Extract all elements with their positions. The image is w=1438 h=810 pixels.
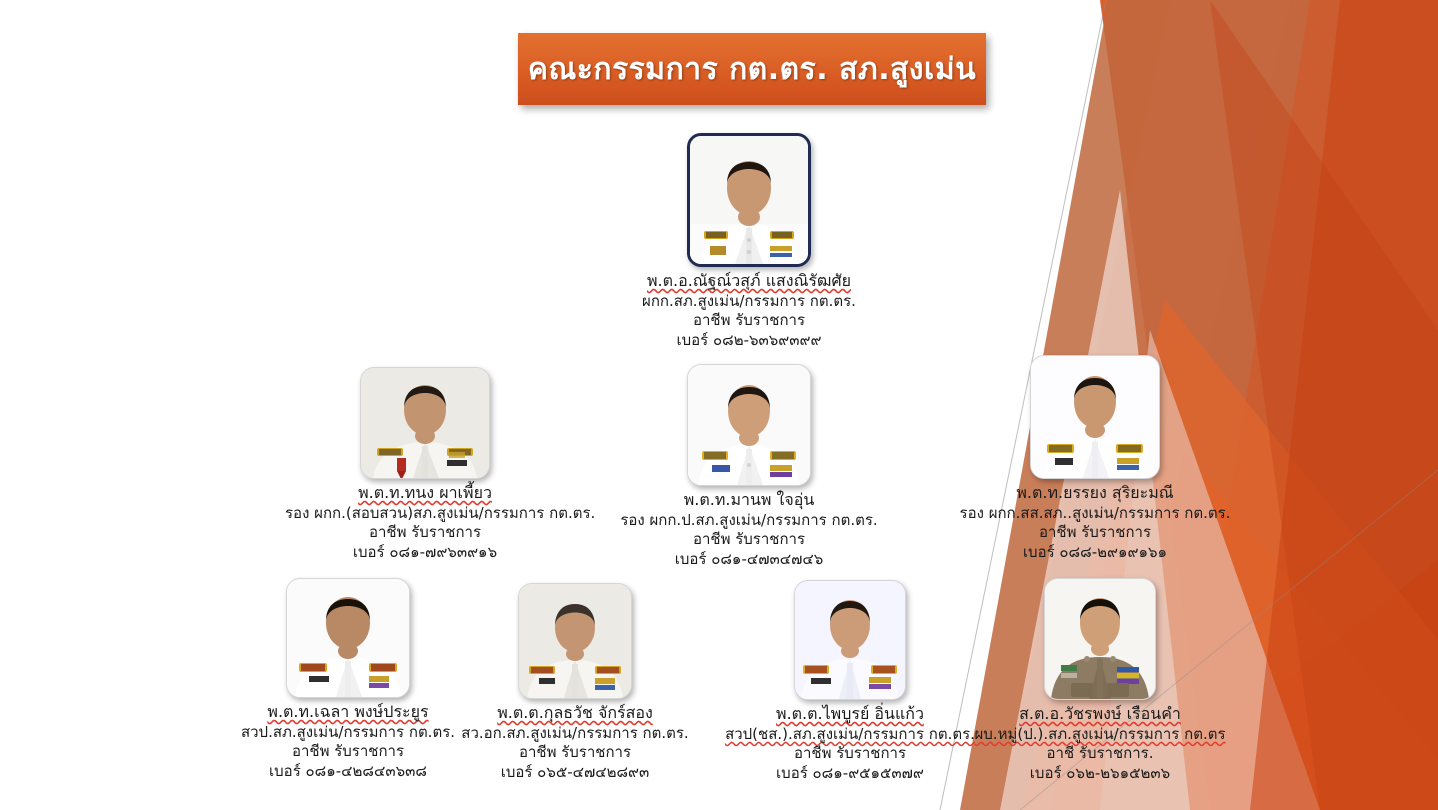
photo-frame-squad-leader xyxy=(1044,578,1156,700)
person-phone: เบอร์ ๐๘๑-๙๕๑๕๓๗๙ xyxy=(710,764,990,784)
portrait-deputy-investigation-branch xyxy=(1031,356,1159,478)
portrait-chief xyxy=(690,136,808,264)
portrait-squad-leader xyxy=(1045,579,1155,699)
caption-squad-leader: ส.ต.อ.วัชรพงษ์ เรือนคำ ผบ.หมู่(ป.).สภ.สู… xyxy=(960,704,1240,783)
person-card-deputy-investigation-branch: พ.ต.ท.ยรรยง สุริยะมณี รอง ผกก.สส.สภ..สูง… xyxy=(955,355,1235,562)
person-occupation: อาชีพ รับราชการ xyxy=(609,530,889,550)
person-card-inspector-admin: พ.ต.ต.กุลธวัช จักร์สอง สว.อก.สภ.สูงเม่น/… xyxy=(445,583,705,782)
person-position: สวป(ชส.).สภ.สูงเม่น/กรรมการ กต.ตร. xyxy=(710,725,990,745)
person-card-squad-leader: ส.ต.อ.วัชรพงษ์ เรือนคำ ผบ.หมู่(ป.).สภ.สู… xyxy=(960,578,1240,783)
portrait-deputy-prevention xyxy=(688,365,810,485)
person-name: พ.ต.ต.กุลธวัช จักร์สอง xyxy=(445,703,705,724)
person-position: สว.อก.สภ.สูงเม่น/กรรมการ กต.ตร. xyxy=(445,724,705,744)
person-name: พ.ต.ต.ไพบูรย์ อิ่นแก้ว xyxy=(710,704,990,725)
person-name: พ.ต.ท.มานพ ใจอุ่น xyxy=(609,490,889,511)
person-name: พ.ต.ท.ทนง ผาเพี้ยว xyxy=(285,483,565,504)
person-position: ผบ.หมู่(ป.).สภ.สูงเม่น/กรรมการ กต.ตร xyxy=(960,725,1240,745)
person-occupation: อาชีพ รับราชการ xyxy=(285,523,565,543)
portrait-inspector-prevention-cs xyxy=(795,581,905,699)
person-card-inspector-prevention-cs: พ.ต.ต.ไพบูรย์ อิ่นแก้ว สวป(ชส.).สภ.สูงเม… xyxy=(710,580,990,783)
person-name: ส.ต.อ.วัชรพงษ์ เรือนคำ xyxy=(960,704,1240,725)
slide-canvas: คณะกรรมการ กต.ตร. สภ.สูงเม่น xyxy=(0,0,1438,810)
photo-frame-deputy-prevention xyxy=(687,364,811,486)
person-name: พ.ต.อ.ณัฐณ์วสุภ์ แสงณิรัฒศัย xyxy=(609,271,889,292)
portrait-inspector-admin xyxy=(519,584,631,698)
photo-frame-chief xyxy=(687,133,811,267)
photo-frame-inspector-prevention xyxy=(286,578,410,698)
caption-inspector-admin: พ.ต.ต.กุลธวัช จักร์สอง สว.อก.สภ.สูงเม่น/… xyxy=(445,703,705,782)
person-phone: เบอร์ ๐๘๘-๒๙๑๙๑๖๑ xyxy=(955,543,1235,563)
person-occupation: อาชีพ รับราชการ xyxy=(710,744,990,764)
slide-title-banner: คณะกรรมการ กต.ตร. สภ.สูงเม่น xyxy=(518,33,986,105)
person-card-deputy-investigation: พ.ต.ท.ทนง ผาเพี้ยว รอง ผกก.(สอบสวน)สภ.สู… xyxy=(285,367,565,562)
person-occupation: อาชี รับราชการ. xyxy=(960,744,1240,764)
person-phone: เบอร์ ๐๘๒-๖๓๖๙๓๙๙ xyxy=(609,331,889,351)
person-phone: เบอร์ ๐๖๕-๔๗๔๒๘๙๓ xyxy=(445,763,705,783)
caption-inspector-prevention-cs: พ.ต.ต.ไพบูรย์ อิ่นแก้ว สวป(ชส.).สภ.สูงเม… xyxy=(710,704,990,783)
person-card-deputy-prevention: พ.ต.ท.มานพ ใจอุ่น รอง ผกก.ป.สภ.สูงเม่น/ก… xyxy=(609,364,889,569)
caption-deputy-investigation-branch: พ.ต.ท.ยรรยง สุริยะมณี รอง ผกก.สส.สภ..สูง… xyxy=(955,483,1235,562)
person-occupation: อาชีพ รับราชการ xyxy=(609,311,889,331)
person-phone: เบอร์ ๐๖๒-๒๖๑๕๒๓๖ xyxy=(960,764,1240,784)
caption-chief: พ.ต.อ.ณัฐณ์วสุภ์ แสงณิรัฒศัย ผกก.สภ.สูงเ… xyxy=(609,271,889,350)
caption-deputy-prevention: พ.ต.ท.มานพ ใจอุ่น รอง ผกก.ป.สภ.สูงเม่น/ก… xyxy=(609,490,889,569)
person-name: พ.ต.ท.ยรรยง สุริยะมณี xyxy=(955,483,1235,504)
person-phone: เบอร์ ๐๘๑-๔๗๓๔๗๔๖ xyxy=(609,550,889,570)
photo-frame-deputy-investigation xyxy=(360,367,490,479)
person-position: ผกก.สภ.สูงเม่น/กรรมการ กต.ตร. xyxy=(609,292,889,312)
photo-frame-inspector-admin xyxy=(518,583,632,699)
person-occupation: อาชีพ รับราชการ xyxy=(955,523,1235,543)
caption-deputy-investigation: พ.ต.ท.ทนง ผาเพี้ยว รอง ผกก.(สอบสวน)สภ.สู… xyxy=(285,483,565,562)
person-position: รอง ผกก.(สอบสวน)สภ.สูงเม่น/กรรมการ กต.ตร… xyxy=(285,504,565,524)
portrait-deputy-investigation xyxy=(361,368,489,478)
person-occupation: อาชีพ รับราชการ xyxy=(445,743,705,763)
person-position: รอง ผกก.ป.สภ.สูงเม่น/กรรมการ กต.ตร. xyxy=(609,511,889,531)
portrait-inspector-prevention xyxy=(287,579,409,697)
person-position: รอง ผกก.สส.สภ..สูงเม่น/กรรมการ กต.ตร. xyxy=(955,504,1235,524)
photo-frame-inspector-prevention-cs xyxy=(794,580,906,700)
photo-frame-deputy-investigation-branch xyxy=(1030,355,1160,479)
person-card-chief: พ.ต.อ.ณัฐณ์วสุภ์ แสงณิรัฒศัย ผกก.สภ.สูงเ… xyxy=(609,133,889,350)
person-phone: เบอร์ ๐๘๑-๗๙๖๓๙๑๖ xyxy=(285,543,565,563)
page-title: คณะกรรมการ กต.ตร. สภ.สูงเม่น xyxy=(528,46,976,93)
